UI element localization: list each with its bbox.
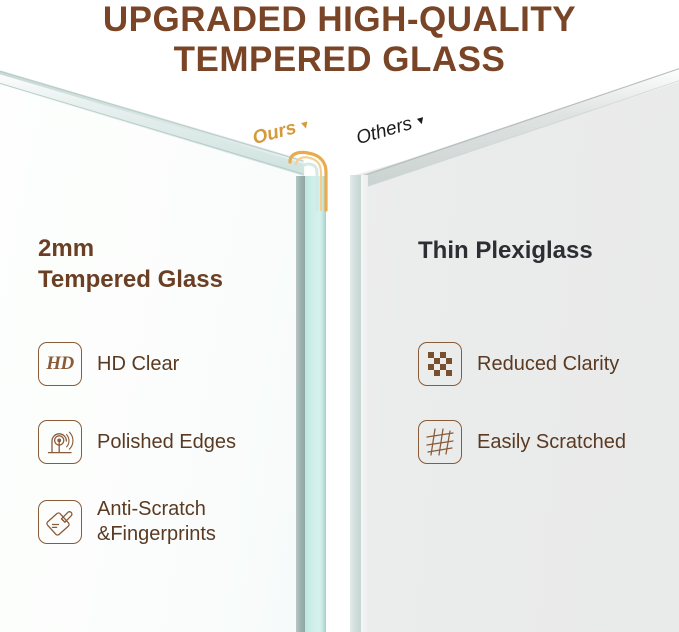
polish-icon-glyph [45,427,75,457]
scratch-lines-icon [418,420,462,464]
feature-row-easily-scratched: Easily Scratched [418,420,626,464]
left-glass-edge-shadow [296,176,305,632]
feature-row-anti-scratch: Anti-Scratch &Fingerprints [38,497,216,547]
feature-row-hd-clear: HD HD Clear [38,342,179,386]
feature-label: Anti-Scratch &Fingerprints [97,497,216,547]
feature-row-reduced-clarity: Reduced Clarity [418,342,619,386]
feature-label: Easily Scratched [477,430,626,455]
right-plexiglass-edge-highlight [361,175,368,632]
scratch-lines-icon-glyph [424,426,456,458]
checkerboard-icon-glyph [425,349,455,379]
left-glass-edge-highlight [322,176,326,632]
checkerboard-icon [418,342,462,386]
hd-icon: HD [38,342,82,386]
anti-scratch-icon-glyph [44,506,76,538]
polish-icon [38,420,82,464]
feature-label: Polished Edges [97,430,236,455]
feature-label: HD Clear [97,352,179,377]
left-panel-heading: 2mm Tempered Glass [38,233,223,295]
hd-icon-text: HD [46,353,74,375]
feature-row-polished-edges: Polished Edges [38,420,236,464]
right-panel-heading: Thin Plexiglass [418,235,593,266]
right-plexiglass-edge [350,175,361,632]
feature-label: Reduced Clarity [477,352,619,377]
comparison-infographic: UPGRADED HIGH-QUALITY TEMPERED GLASS Our… [0,0,679,632]
anti-scratch-icon [38,500,82,544]
